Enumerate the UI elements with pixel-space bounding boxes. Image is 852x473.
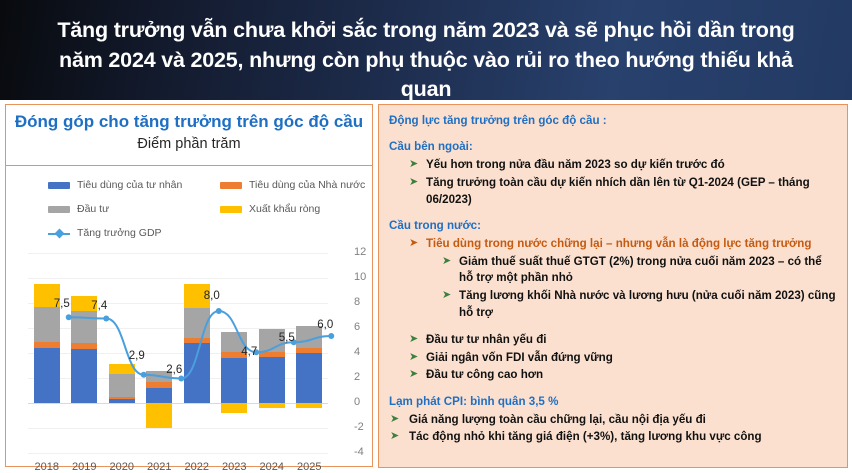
bullet-text: Yếu hơn trong nửa đầu năm 2023 so dự kiế… xyxy=(426,158,725,171)
gdp-data-point xyxy=(328,333,334,339)
gdp-data-label: 7,5 xyxy=(54,298,70,310)
legend-label-investment: Đầu tư xyxy=(77,203,109,215)
gdp-growth-line xyxy=(50,261,350,461)
analysis-text-panel: Động lực tăng trưởng trên góc độ cầu : C… xyxy=(378,104,848,468)
bullet-text: Đầu tư công cao hơn xyxy=(426,368,543,381)
gdp-data-label: 2,6 xyxy=(166,364,182,376)
bullet-investment-2: ➤ Đầu tư công cao hơn xyxy=(409,367,839,384)
legend-item-government-consumption[interactable]: Tiêu dùng của Nhà nước xyxy=(220,179,365,191)
gdp-data-point xyxy=(141,372,147,378)
arrow-bullet-icon: ➤ xyxy=(390,429,399,445)
legend-label-government-consumption: Tiêu dùng của Nhà nước xyxy=(249,179,365,191)
spacer xyxy=(387,323,839,332)
y-axis-tick-label: 12 xyxy=(354,246,380,258)
panel-section-external: Cầu bên ngoài: xyxy=(389,139,839,155)
chart-legend: Tiêu dùng của tư nhân Tiêu dùng của Nhà … xyxy=(48,179,368,241)
legend-swatch-net-exports xyxy=(220,206,242,213)
legend-item-investment[interactable]: Đầu tư xyxy=(48,203,109,215)
gdp-data-label: 4,7 xyxy=(241,346,257,358)
bullet-text: Giá năng lượng toàn cầu chững lại, cầu n… xyxy=(409,413,706,426)
gdp-data-label: 8,0 xyxy=(204,290,220,302)
bullet-text: Giải ngân vốn FDI vẫn đứng vững xyxy=(426,351,613,364)
bullet-text: Đầu tư tư nhân yếu đi xyxy=(426,333,547,346)
gdp-data-point xyxy=(216,308,222,314)
arrow-bullet-icon: ➤ xyxy=(409,157,418,173)
panel-section-domestic: Cầu trong nước: xyxy=(389,218,839,234)
arrow-bullet-icon: ➤ xyxy=(409,367,418,383)
slide: Tăng trưởng vẫn chưa khởi sắc trong năm … xyxy=(0,0,852,471)
bullet-text: Tăng lương khối Nhà nước và lương hưu (n… xyxy=(459,289,836,319)
spacer xyxy=(387,209,839,218)
spacer xyxy=(387,385,839,394)
arrow-bullet-icon: ➤ xyxy=(409,175,418,191)
arrow-bullet-icon: ➤ xyxy=(409,350,418,366)
gdp-data-label: 5,5 xyxy=(279,332,295,344)
gdp-data-label: 6,0 xyxy=(317,319,333,331)
chart-subtitle: Điểm phần trăm xyxy=(6,136,372,152)
chart-title-box: Đóng góp cho tăng trưởng trên góc độ cầu… xyxy=(6,105,372,166)
arrow-bullet-icon: ➤ xyxy=(442,288,451,304)
bullet-text: Tác động nhỏ khi tăng giá điện (+3%), tă… xyxy=(409,430,762,443)
legend-swatch-gdp-growth xyxy=(48,229,70,238)
y-axis-tick-label: -2 xyxy=(354,421,380,433)
panel-section-cpi: Lạm phát CPI: bình quân 3,5 % xyxy=(389,394,839,410)
bullet-text: Tiêu dùng trong nước chững lại – nhưng v… xyxy=(426,237,811,250)
arrow-bullet-icon: ➤ xyxy=(409,236,418,252)
bullet-domestic-main: ➤ Tiêu dùng trong nước chững lại – nhưng… xyxy=(409,236,839,253)
y-axis-tick-label: 0 xyxy=(354,396,380,408)
chart-title: Đóng góp cho tăng trưởng trên góc độ cầu xyxy=(6,112,372,132)
plot-inner: 121086420-2-4201820192020202120222023202… xyxy=(28,253,328,453)
bullet-cpi-0: ➤ Giá năng lượng toàn cầu chững lại, cầu… xyxy=(390,412,839,429)
y-axis-tick-label: 4 xyxy=(354,346,380,358)
bullet-external-1: ➤ Tăng trưởng toàn cầu dự kiến nhích dần… xyxy=(409,175,839,209)
bullet-investment-1: ➤ Giải ngân vốn FDI vẫn đứng vững xyxy=(409,350,839,367)
legend-swatch-private-consumption xyxy=(48,182,70,189)
legend-label-net-exports: Xuất khẩu ròng xyxy=(249,203,320,215)
arrow-bullet-icon: ➤ xyxy=(390,412,399,428)
legend-label-private-consumption: Tiêu dùng của tư nhân xyxy=(77,179,182,191)
gdp-data-point xyxy=(103,316,109,322)
bullet-domestic-sub-1: ➤ Tăng lương khối Nhà nước và lương hưu … xyxy=(442,288,839,322)
arrow-bullet-icon: ➤ xyxy=(409,332,418,348)
legend-item-gdp-growth[interactable]: Tăng trưởng GDP xyxy=(48,227,162,239)
x-axis-tick-label: 2025 xyxy=(287,461,331,473)
y-axis-tick-label: 10 xyxy=(354,271,380,283)
y-axis-tick-label: 2 xyxy=(354,371,380,383)
bullet-domestic-sub-0: ➤ Giảm thuế suất thuế GTGT (2%) trong nử… xyxy=(442,254,839,288)
chart-plot-area: 121086420-2-4201820192020202120222023202… xyxy=(6,245,372,466)
gdp-data-point xyxy=(178,376,184,382)
y-axis-tick-label: 8 xyxy=(354,296,380,308)
legend-label-gdp-growth: Tăng trưởng GDP xyxy=(77,227,162,239)
arrow-bullet-icon: ➤ xyxy=(442,254,451,270)
bullet-investment-0: ➤ Đầu tư tư nhân yếu đi xyxy=(409,332,839,349)
bullet-cpi-1: ➤ Tác động nhỏ khi tăng giá điện (+3%), … xyxy=(390,429,839,446)
legend-item-private-consumption[interactable]: Tiêu dùng của tư nhân xyxy=(48,179,182,191)
legend-swatch-government-consumption xyxy=(220,182,242,189)
bullet-text: Giảm thuế suất thuế GTGT (2%) trong nửa … xyxy=(459,255,822,285)
bullet-text: Tăng trưởng toàn cầu dự kiến nhích dần l… xyxy=(426,176,810,206)
slide-title: Tăng trưởng vẫn chưa khởi sắc trong năm … xyxy=(40,16,812,105)
chart-panel: Đóng góp cho tăng trưởng trên góc độ cầu… xyxy=(5,104,373,467)
y-axis-tick-label: 6 xyxy=(354,321,380,333)
legend-item-net-exports[interactable]: Xuất khẩu ròng xyxy=(220,203,320,215)
gdp-data-point xyxy=(66,314,72,320)
spacer xyxy=(387,130,839,139)
legend-swatch-investment xyxy=(48,206,70,213)
gridline xyxy=(28,253,328,254)
gdp-data-label: 7,4 xyxy=(91,300,107,312)
bullet-external-0: ➤ Yếu hơn trong nửa đầu năm 2023 so dự k… xyxy=(409,157,839,174)
panel-heading-main: Động lực tăng trưởng trên góc độ cầu : xyxy=(389,113,839,129)
y-axis-tick-label: -4 xyxy=(354,446,380,458)
gdp-data-label: 2,9 xyxy=(129,350,145,362)
slide-header: Tăng trưởng vẫn chưa khởi sắc trong năm … xyxy=(0,0,852,100)
